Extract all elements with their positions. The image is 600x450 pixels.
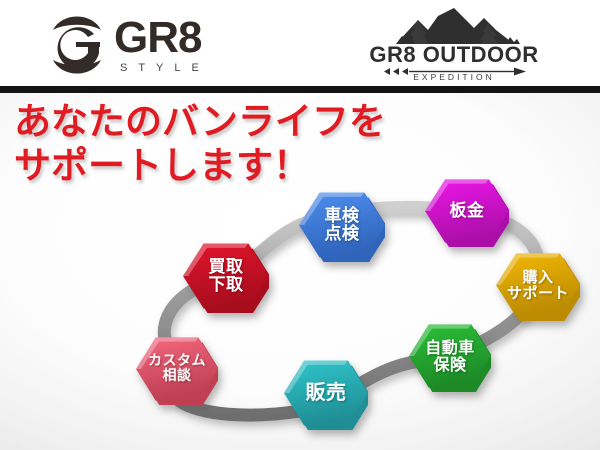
- hexagon-shape: [136, 333, 218, 405]
- hexagon-shape: [284, 356, 368, 430]
- site-header: GR8 STYLE GR8 OUTDOOR EXPEDITION: [0, 0, 600, 86]
- gr8-outdoor-subtitle: EXPEDITION: [366, 72, 542, 82]
- service-hex-jidousha-hoken[interactable]: 自動車保険: [409, 320, 491, 392]
- gr8-g-mark-icon: [48, 16, 106, 74]
- service-hex-custom-soudan[interactable]: カスタム相談: [136, 333, 218, 405]
- service-hex-kounyu-support[interactable]: 購入サポート: [496, 249, 580, 321]
- hexagon-shape: [425, 175, 509, 247]
- service-hex-hanbai[interactable]: 販売: [284, 356, 368, 430]
- hexagon-shape: [183, 239, 269, 313]
- gr8-outdoor-logo[interactable]: GR8 OUTDOOR EXPEDITION: [366, 6, 542, 82]
- gr8-wordmark-text: GR8: [114, 15, 201, 61]
- header-divider: [0, 86, 600, 93]
- hexagon-shape: [409, 320, 491, 392]
- gr8-outdoor-wordmark-text: GR8 OUTDOOR: [366, 42, 542, 68]
- hexagon-shape: [496, 249, 580, 321]
- hexagon-shape: [299, 188, 385, 262]
- service-hex-shaken-tenken[interactable]: 車検点検: [299, 188, 385, 262]
- main-canvas: あなたのバンライフを サポートします！ 買取下取車検点検板金購入サポート自動車保…: [0, 93, 600, 450]
- service-hex-baikyaku-shitadori[interactable]: 買取下取: [183, 239, 269, 313]
- mountain-range-icon: [388, 6, 522, 44]
- gr8-style-subtitle: STYLE: [120, 62, 210, 74]
- service-hex-bankin[interactable]: 板金: [425, 175, 509, 247]
- gr8-style-logo[interactable]: GR8 STYLE: [48, 12, 278, 78]
- page-root: GR8 STYLE GR8 OUTDOOR EXPEDITION: [0, 0, 600, 450]
